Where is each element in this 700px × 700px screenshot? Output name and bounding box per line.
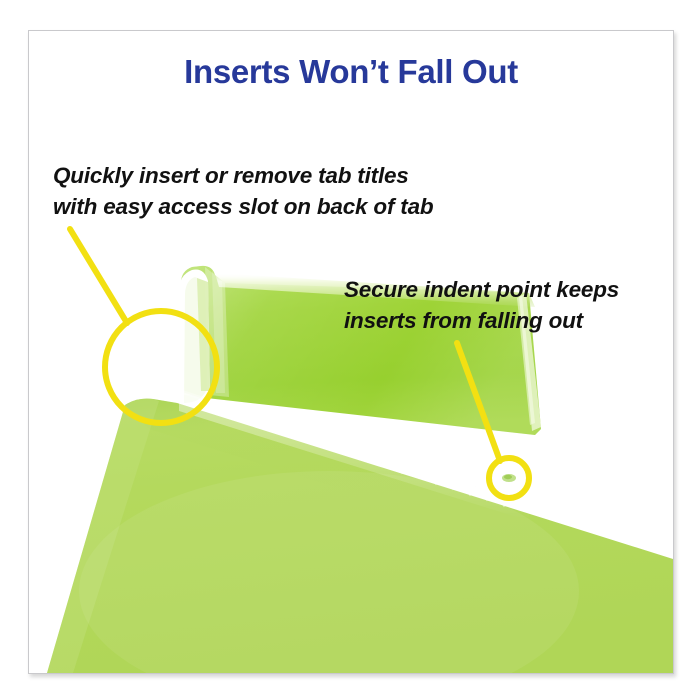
page-title: Inserts Won’t Fall Out — [29, 53, 673, 91]
highlight-circle-right — [489, 458, 529, 498]
callout-left-marker — [70, 229, 217, 423]
callout-markers — [29, 31, 673, 673]
callout-left-label: Quickly insert or remove tab titles with… — [53, 160, 433, 222]
callout-right-marker — [457, 343, 529, 498]
product-callout-image: Inserts Won’t Fall Out Quickly insert or… — [0, 0, 700, 700]
photo-frame: Inserts Won’t Fall Out Quickly insert or… — [28, 30, 674, 674]
highlight-circle-left — [105, 311, 217, 423]
callout-right-label: Secure indent point keeps inserts from f… — [344, 274, 619, 336]
leader-line-left — [70, 229, 127, 323]
leader-line-right — [457, 343, 500, 461]
